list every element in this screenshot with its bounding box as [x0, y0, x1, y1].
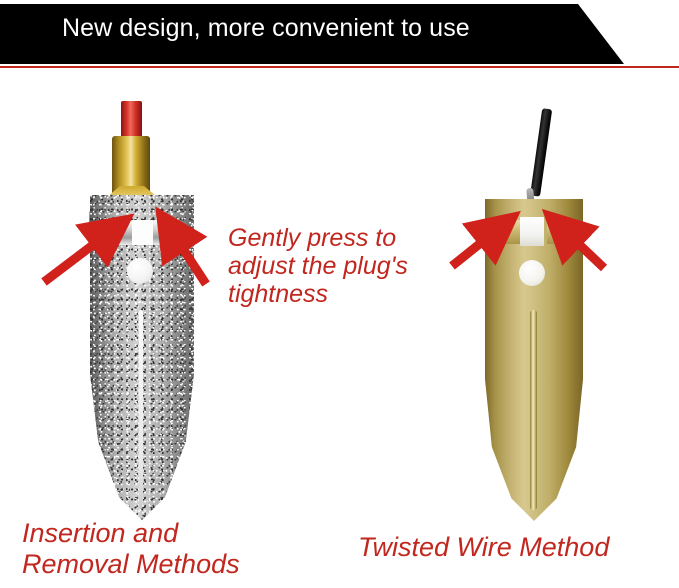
callout-line-3: tightness: [228, 280, 473, 308]
callout-line-2: adjust the plug's: [228, 252, 473, 280]
callout-instruction-text: Gently press to adjust the plug's tightn…: [228, 224, 473, 308]
caption-right: Twisted Wire Method: [358, 532, 678, 563]
mounting-hole: [127, 258, 153, 284]
header-title: New design, more convenient to use: [62, 14, 470, 43]
caption-left-line-1: Insertion and: [22, 518, 322, 549]
header-banner: New design, more convenient to use: [0, 0, 679, 64]
product-illustration-stage: Gently press to adjust the plug's tightn…: [0, 70, 679, 588]
adjustment-clip-left: [110, 220, 132, 245]
plug-center-slot: [139, 310, 143, 505]
brass-center-groove: [530, 310, 537, 510]
caption-left: Insertion and Removal Methods: [22, 518, 322, 580]
callout-line-1: Gently press to: [228, 224, 473, 252]
caption-right-line-1: Twisted Wire Method: [358, 532, 678, 563]
header-divider-rule: [0, 66, 679, 68]
white-insulator-block: [520, 217, 544, 246]
brass-notch-right: [547, 220, 573, 244]
adjustment-clip-right: [153, 220, 175, 245]
black-wire: [530, 108, 552, 197]
mounting-hole-brass: [519, 260, 545, 286]
brass-notch-left: [495, 220, 521, 244]
clip-gap: [132, 220, 153, 245]
left-product-image: [0, 70, 260, 530]
caption-left-line-2: Removal Methods: [22, 549, 322, 580]
